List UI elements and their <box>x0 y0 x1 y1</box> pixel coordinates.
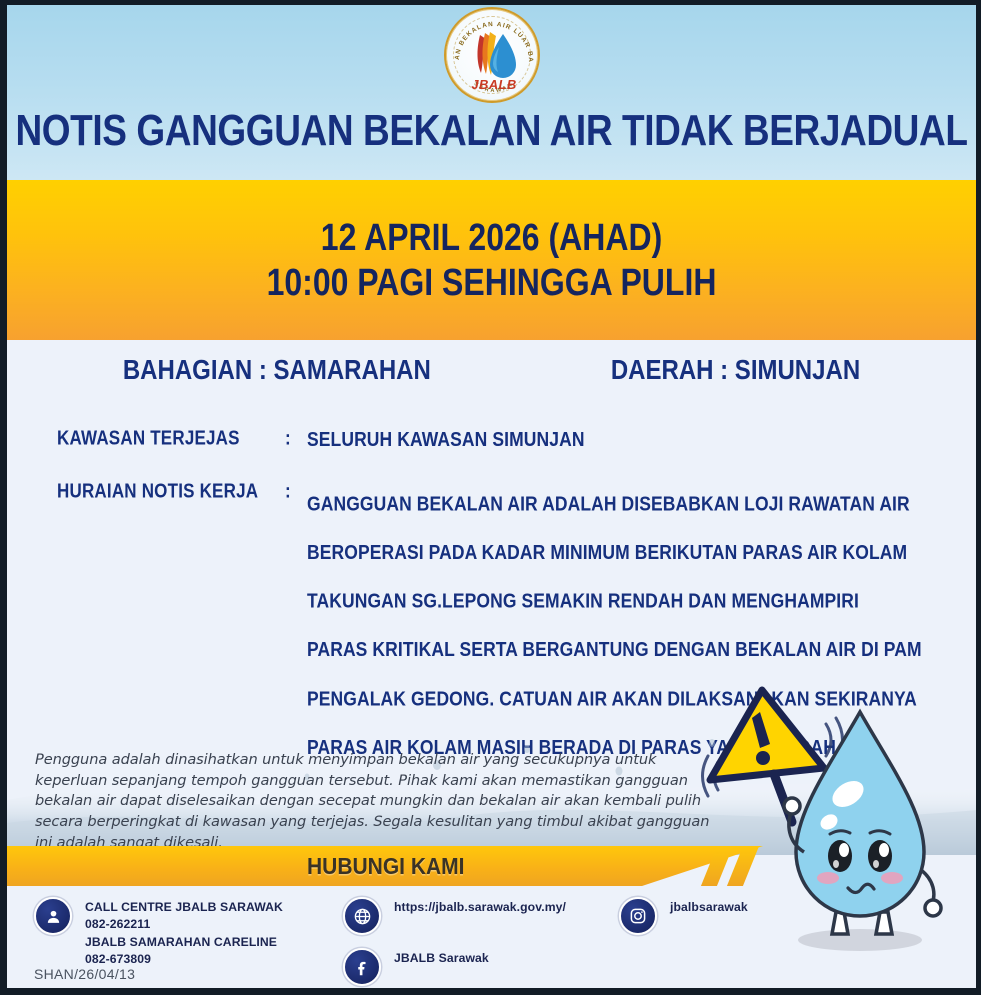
affected-area-label: KAWASAN TERJEJAS <box>57 427 285 451</box>
call-centre-line3: JBALB SAMARAHAN CARELINE <box>85 934 283 951</box>
contact-heading-bar: HUBUNGI KAMI <box>7 846 763 886</box>
advisory-text: Pengguna adalah dinasihatkan untuk menyi… <box>35 750 715 854</box>
warning-triangle-icon <box>710 690 824 822</box>
description-line: BEROPERASI PADA KADAR MINIMUM BERIKUTAN … <box>307 529 922 578</box>
district-label: DAERAH : SIMUNJAN <box>611 355 860 387</box>
facebook-icon <box>343 948 381 986</box>
call-centre-line2: 082-262211 <box>85 916 283 933</box>
poster-header: JABATAN BEKALAN AIR LUAR BANDAR SARAWAK … <box>7 5 976 180</box>
facebook-text: JBALB Sarawak <box>394 948 489 967</box>
reference-code: SHAN/26/04/13 <box>34 966 135 982</box>
globe-icon <box>343 897 381 935</box>
description-line: GANGGUAN BEKALAN AIR ADALAH DISEBABKAN L… <box>307 480 922 529</box>
disruption-date: 12 APRIL 2026 (AHAD) <box>321 215 662 259</box>
website-item[interactable]: https://jbalb.sarawak.gov.my/ <box>343 897 566 935</box>
contact-heading: HUBUNGI KAMI <box>307 854 465 881</box>
date-time-band: 12 APRIL 2026 (AHAD) 10:00 PAGI SEHINGGA… <box>7 180 976 340</box>
description-line: TAKUNGAN SG.LEPONG SEMAKIN RENDAH DAN ME… <box>307 577 922 626</box>
division-label: BAHAGIAN : SAMARAHAN <box>123 355 431 387</box>
svg-text:JBALB: JBALB <box>471 77 516 92</box>
call-centre-text: CALL CENTRE JBALB SARAWAK 082-262211 JBA… <box>85 897 283 968</box>
water-disruption-notice-poster: JABATAN BEKALAN AIR LUAR BANDAR SARAWAK … <box>0 0 981 995</box>
facebook-item[interactable]: JBALB Sarawak <box>343 948 566 986</box>
work-description-colon: : <box>285 480 307 504</box>
affected-area-colon: : <box>285 427 307 451</box>
web-social-group: https://jbalb.sarawak.gov.my/ JBALB Sara… <box>343 897 566 995</box>
instagram-icon <box>619 897 657 935</box>
affected-area-row: KAWASAN TERJEJAS : SELURUH KAWASAN SIMUN… <box>57 427 585 448</box>
disruption-time: 10:00 PAGI SEHINGGA PULIH <box>267 260 717 304</box>
description-line: PARAS KRITIKAL SERTA BERGANTUNG DENGAN B… <box>307 626 922 675</box>
call-centre-item[interactable]: CALL CENTRE JBALB SARAWAK 082-262211 JBA… <box>34 897 283 968</box>
person-icon <box>34 897 72 935</box>
title-bar: NOTIS GANGGUAN BEKALAN AIR TIDAK BERJADU… <box>7 110 976 152</box>
website-text: https://jbalb.sarawak.gov.my/ <box>394 897 566 916</box>
region-row: BAHAGIAN : SAMARAHAN DAERAH : SIMUNJAN <box>7 357 976 385</box>
work-description-label: HURAIAN NOTIS KERJA <box>57 480 285 504</box>
affected-area-value: SELURUH KAWASAN SIMUNJAN <box>307 427 585 452</box>
logo-graphic: JABATAN BEKALAN AIR LUAR BANDAR SARAWAK … <box>446 9 540 103</box>
call-centre-line1: CALL CENTRE JBALB SARAWAK <box>85 899 283 916</box>
jbalb-logo: JABATAN BEKALAN AIR LUAR BANDAR SARAWAK … <box>444 7 540 103</box>
logo-seal: JABATAN BEKALAN AIR LUAR BANDAR SARAWAK … <box>444 7 540 103</box>
water-droplet-mascot <box>700 684 968 966</box>
page-title: NOTIS GANGGUAN BEKALAN AIR TIDAK BERJADU… <box>7 106 976 156</box>
